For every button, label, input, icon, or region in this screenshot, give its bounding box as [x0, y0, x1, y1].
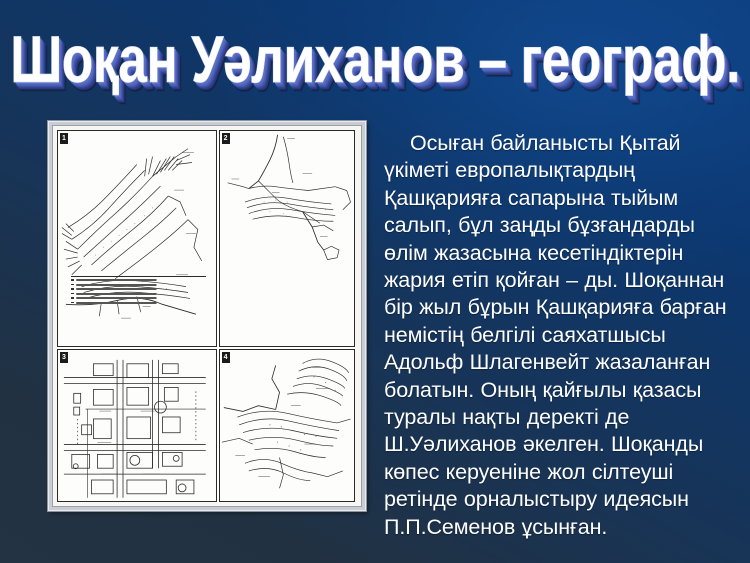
slide-body-text: Осыған байланысты Қытай үкіметі европалы… [384, 130, 740, 541]
city-street-plan-icon [58, 350, 216, 502]
map-plate-1: 1 [57, 130, 217, 347]
river-valley-map-icon [220, 131, 354, 265]
map-plate-4-number: 4 [222, 352, 230, 363]
legend-item [71, 283, 207, 286]
legend-item [71, 292, 207, 295]
slide-title-container: Шоқан Уәлиханов – географ. [0, 14, 750, 106]
map-plate-3: 3 [57, 349, 217, 502]
legend-item [71, 288, 207, 291]
map-plate-4: 4 [219, 349, 355, 502]
legend-item [71, 279, 207, 282]
map-plate-2: 2 [219, 130, 355, 347]
map-picture-frame: 1 [48, 121, 366, 511]
legend-item [71, 297, 207, 300]
route-sketch-map-icon [220, 350, 354, 494]
map-plate-3-number: 3 [60, 352, 68, 363]
map-plate-1-number: 1 [60, 133, 68, 144]
presentation-slide: Шоқан Уәлиханов – географ. 1 [0, 0, 750, 563]
legend-item [71, 301, 207, 304]
map-plate-grid: 1 [57, 130, 355, 502]
map-plate-1-legend [71, 276, 207, 344]
page-title: Шоқан Уәлиханов – географ. [10, 27, 740, 93]
map-picture-inner: 1 [52, 125, 362, 507]
map-plate-2-number: 2 [222, 133, 230, 144]
